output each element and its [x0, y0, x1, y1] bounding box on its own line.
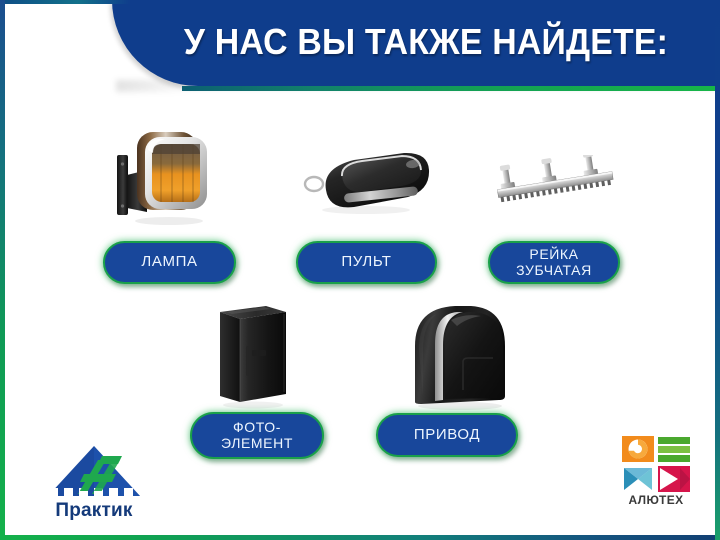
remote-control-icon [296, 140, 436, 220]
product-image-photocell [206, 298, 298, 410]
slide-canvas: У НАС ВЫ ТАКЖЕ НАЙДЕТЕ: [0, 0, 720, 540]
photocell-icon [206, 298, 298, 410]
signal-lamp-icon [103, 120, 235, 235]
toothed-rack-icon [492, 155, 627, 215]
praktik-logo: Практик [34, 444, 154, 530]
product-label-drive[interactable]: ПРИВОД [376, 413, 518, 457]
product-label-lamp[interactable]: ЛАМПА [103, 241, 236, 284]
mountain-triangle-icon [34, 444, 154, 500]
product-label-remote[interactable]: ПУЛЬТ [296, 241, 437, 284]
product-image-remote [296, 140, 436, 220]
gate-drive-icon [405, 300, 517, 410]
praktik-logo-text: Практик [34, 500, 154, 522]
product-image-drive [405, 300, 517, 410]
alutech-logo-text: АЛЮТЕХ [614, 493, 698, 507]
frame-border-top [0, 0, 130, 4]
product-label-photocell[interactable]: ФОТО- ЭЛЕМЕНТ [190, 412, 324, 459]
frame-border-right [715, 0, 720, 540]
product-image-lamp [103, 120, 235, 235]
alutech-logo: АЛЮТЕХ [614, 436, 698, 514]
product-image-rack [492, 155, 627, 215]
product-label-rack[interactable]: РЕЙКА ЗУБЧАТАЯ [488, 241, 620, 284]
four-square-grid-icon [622, 436, 690, 492]
frame-border-left [0, 0, 5, 540]
header-underline [182, 86, 720, 91]
page-title: У НАС ВЫ ТАКЖЕ НАЙДЕТЕ: [167, 16, 686, 68]
frame-border-bottom [0, 535, 720, 540]
